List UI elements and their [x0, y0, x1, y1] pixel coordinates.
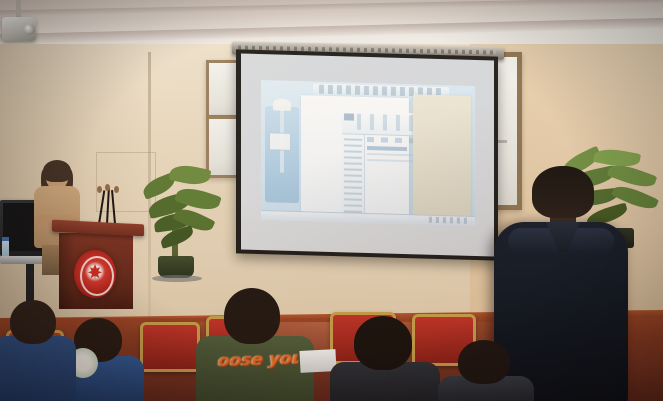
person-hair: [532, 166, 594, 218]
leaf: [169, 162, 212, 188]
audience-member: [330, 316, 440, 401]
audience-torso: [0, 336, 76, 401]
podium: [52, 222, 144, 308]
audience-head: [10, 300, 56, 344]
audience-head: [224, 288, 280, 344]
microphone-head: [114, 186, 119, 193]
screen-glare: [241, 53, 494, 256]
audience-member: [438, 340, 534, 401]
bottle-cap: [2, 237, 9, 241]
potted-plant-left: [140, 160, 226, 260]
jacket-graffiti-text: oose your: [217, 349, 300, 374]
audience-member: oose your: [196, 288, 314, 401]
audience-head: [354, 316, 412, 370]
presenter-hair: [43, 160, 71, 182]
microphone-head: [97, 186, 102, 193]
audience-member: [0, 300, 76, 401]
audience-head: [458, 340, 510, 384]
podium-shadow: [59, 233, 75, 309]
plant-saucer: [152, 275, 202, 282]
projector-lens-icon: [24, 24, 35, 35]
microphone-head: [105, 184, 110, 191]
auditorium-chair: [140, 322, 200, 372]
lecture-hall-photo: oose your: [0, 0, 663, 401]
projector-mount: [2, 0, 36, 44]
